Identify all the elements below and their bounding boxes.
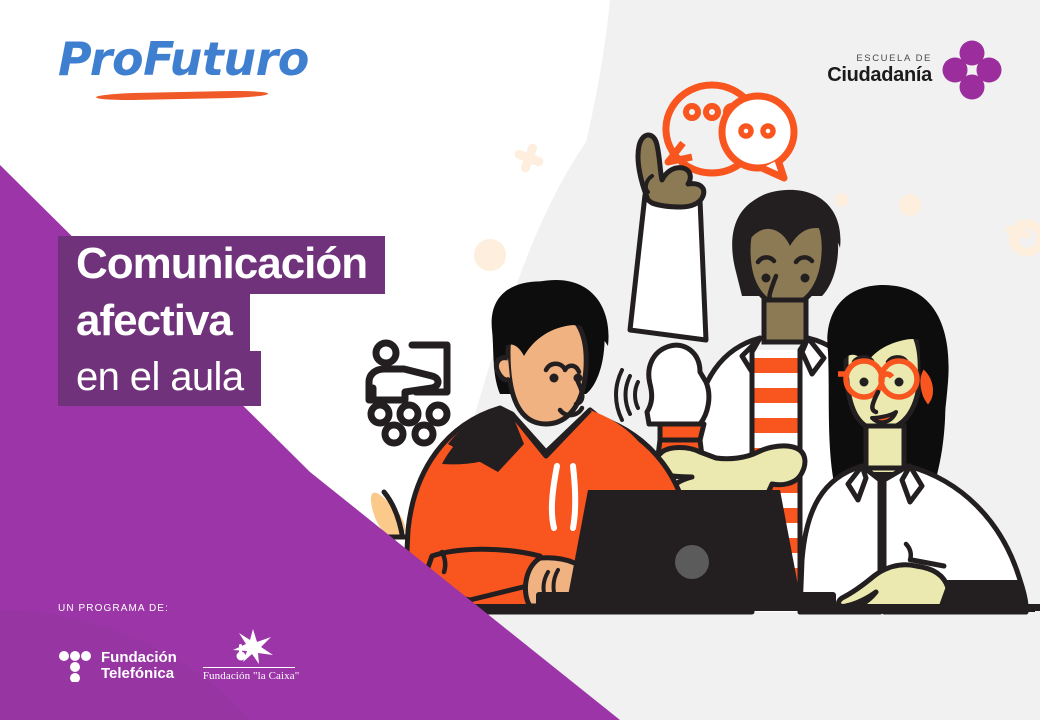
- footer-sponsors: UN PROGRAMA DE: Fundación: [58, 603, 295, 682]
- telefonica-line-2: Telefónica: [101, 666, 177, 682]
- profuturo-underline-stroke: [96, 90, 268, 101]
- footer-kicker-label: UN PROGRAMA DE:: [58, 603, 295, 614]
- fundacion-lacaixa-logo[interactable]: Fundación "la Caixa": [203, 628, 295, 682]
- profuturo-wordmark: ProFuturo: [58, 36, 288, 82]
- mark-petal-left: [943, 58, 968, 83]
- lacaixa-star-mark: [203, 628, 295, 664]
- title-line-1: Comunicación: [58, 236, 385, 294]
- telefonica-name-label: Fundación Telefónica: [101, 650, 177, 682]
- profuturo-word-pro: Pro: [58, 32, 143, 86]
- title-line-3: en el aula: [58, 351, 261, 406]
- telefonica-dots-mark: [58, 650, 92, 682]
- escuela-kicker-label: ESCUELA DE: [827, 54, 932, 64]
- slide-canvas: ProFuturo ESCUELA DE Ciudadanía Comunica…: [0, 0, 1040, 720]
- footer-logo-row: Fundación Telefónica Fundación "la Cai: [58, 628, 295, 682]
- slide-title-block: Comunicación afectiva en el aula: [58, 236, 385, 406]
- escuela-ciudadania-logo[interactable]: ESCUELA DE Ciudadanía: [827, 38, 1002, 102]
- escuela-ciudadania-text: ESCUELA DE Ciudadanía: [827, 54, 932, 86]
- fundacion-telefonica-logo[interactable]: Fundación Telefónica: [58, 650, 177, 682]
- profuturo-word-futuro: Futuro: [143, 32, 309, 86]
- lacaixa-name-label: Fundación "la Caixa": [203, 670, 295, 682]
- lacaixa-divider-rule: [203, 667, 295, 668]
- telefonica-line-1: Fundación: [101, 650, 177, 666]
- title-line-2: afectiva: [58, 293, 250, 351]
- profuturo-logo[interactable]: ProFuturo: [58, 36, 288, 106]
- escuela-name-label: Ciudadanía: [827, 64, 932, 86]
- escuela-flower-mark: [942, 40, 1002, 100]
